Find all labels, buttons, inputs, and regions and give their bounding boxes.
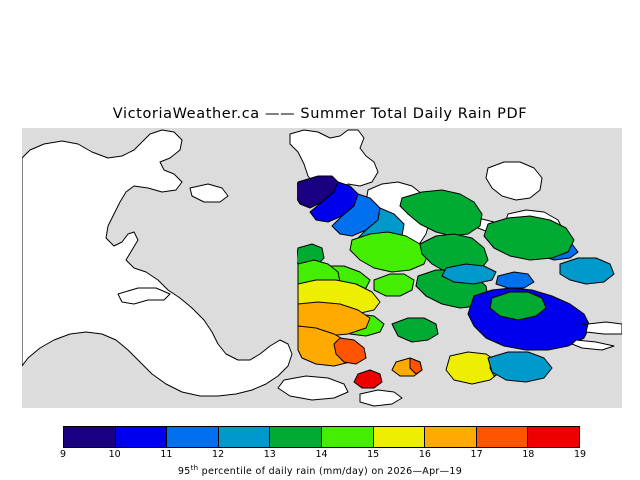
colorbar-tick-12: 12 [212,449,224,460]
colorbar-segment-16-17 [425,427,477,447]
colorbar-segment-10-11 [116,427,168,447]
weather-map-figure: VictoriaWeather.ca —— Summer Total Daily… [0,0,640,480]
colorbar-tick-11: 11 [160,449,172,460]
colorbar-caption: 95th percentile of daily rain (mm/day) o… [0,464,640,477]
colorbar: 910111213141516171819 95th percentile of… [0,424,640,480]
east-nodata-spit [586,322,622,334]
colorbar-tick-9: 9 [60,449,66,460]
colorbar-tick-17: 17 [471,449,483,460]
colorbar-tick-18: 18 [522,449,534,460]
colorbar-segment-11-12 [167,427,219,447]
colorbar-swatches [63,426,580,448]
colorbar-segment-12-13 [219,427,271,447]
colorbar-tick-19: 19 [574,449,586,460]
colorbar-segment-9-10 [64,427,116,447]
colorbar-segment-18-19 [528,427,579,447]
map-svg [22,128,622,408]
colorbar-tick-labels: 910111213141516171819 [0,449,640,463]
colorbar-tick-13: 13 [264,449,276,460]
colorbar-tick-14: 14 [315,449,327,460]
map-canvas [22,128,622,408]
colorbar-segment-17-18 [477,427,529,447]
caption-rest: percentile of daily rain (mm/day) on 202… [198,466,462,477]
figure-title: VictoriaWeather.ca —— Summer Total Daily… [0,106,640,122]
colorbar-tick-15: 15 [367,449,379,460]
colorbar-tick-10: 10 [109,449,121,460]
colorbar-segment-14-15 [322,427,374,447]
caption-percentile-number: 95 [178,466,191,477]
colorbar-tick-16: 16 [419,449,431,460]
colorbar-segment-15-16 [374,427,426,447]
colorbar-segment-13-14 [270,427,322,447]
